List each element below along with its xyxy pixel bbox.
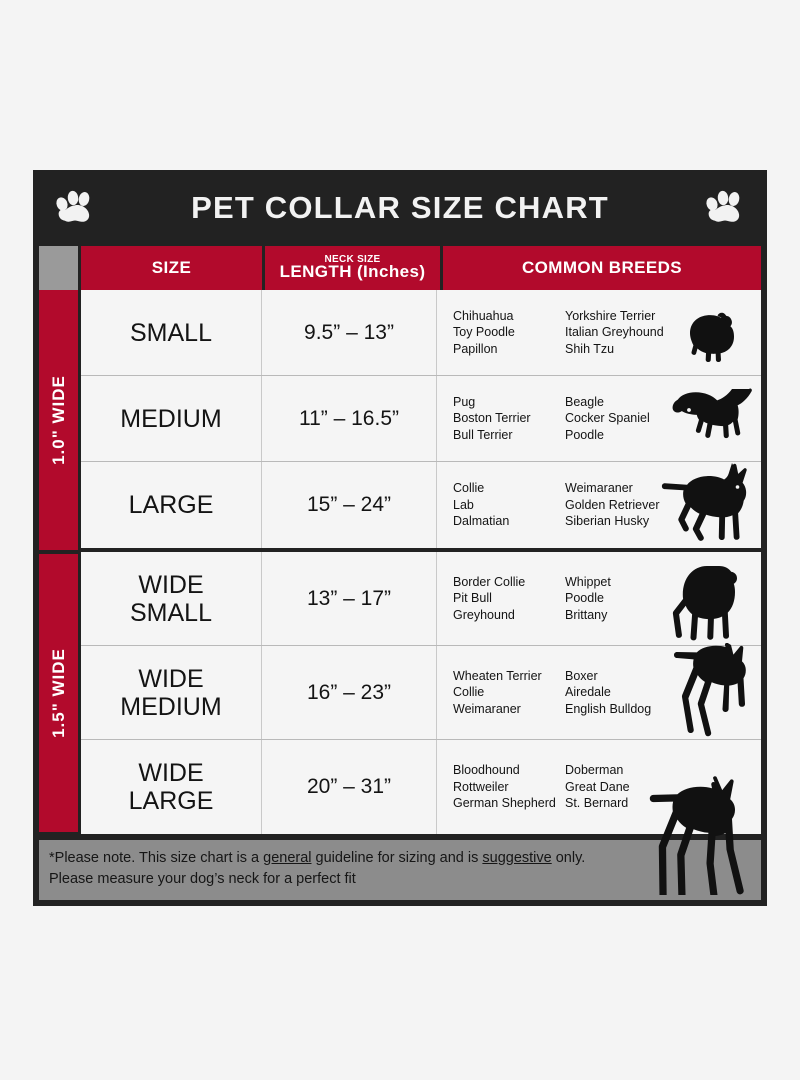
cell-length: 16” – 23” (262, 646, 437, 739)
footnote-line-2: Please measure your dog’s neck for a per… (49, 869, 751, 890)
breed-item: Brittany (565, 607, 685, 624)
size-label-line2: LARGE (129, 787, 214, 815)
footnote-underline-general: general (263, 850, 311, 866)
breed-item: Doberman (565, 762, 685, 779)
breed-item: Airedale (565, 684, 685, 701)
footnote-underline-suggestive: suggestive (482, 850, 551, 866)
rows-container: SMALL 9.5” – 13” Chihuahua Toy Poodle Pa… (81, 290, 761, 834)
cell-breeds: Border Collie Pit Bull Greyhound Whippet… (437, 552, 761, 645)
column-header-length-main: LENGTH (Inches) (280, 263, 426, 280)
page-title: PET COLLAR SIZE CHART (191, 190, 609, 226)
footnote-text-c: only. (552, 850, 586, 866)
pet-collar-size-chart: PET COLLAR SIZE CHART SIZE NECK SIZE LEN… (33, 170, 767, 906)
table-row: WIDE LARGE 20” – 31” Bloodhound Rottweil… (81, 740, 761, 834)
breed-column-a: Pug Boston Terrier Bull Terrier (453, 394, 565, 444)
size-label: MEDIUM (120, 405, 221, 433)
breed-column-b: Doberman Great Dane St. Bernard (565, 762, 685, 812)
breed-item: Toy Poodle (453, 324, 565, 341)
cell-breeds: Chihuahua Toy Poodle Papillon Yorkshire … (437, 290, 761, 375)
breed-item: Pit Bull (453, 590, 565, 607)
dog-silhouette-pomeranian-icon (677, 305, 747, 367)
cell-size: WIDE MEDIUM (81, 646, 262, 739)
breed-item: Poodle (565, 590, 685, 607)
size-label: WIDE (138, 759, 203, 787)
breed-item: English Bulldog (565, 701, 685, 718)
table-row: MEDIUM 11” – 16.5” Pug Boston Terrier Bu… (81, 376, 761, 462)
breed-item: Boxer (565, 668, 685, 685)
size-label: SMALL (130, 319, 212, 347)
table-row: LARGE 15” – 24” Collie Lab Dalmatian Wei… (81, 462, 761, 548)
size-label: WIDE (138, 665, 203, 693)
breed-column-a: Collie Lab Dalmatian (453, 480, 565, 530)
breed-item: Boston Terrier (453, 410, 565, 427)
breed-item: Great Dane (565, 779, 685, 796)
breed-column-a: Chihuahua Toy Poodle Papillon (453, 308, 565, 358)
breed-item: Weimaraner (565, 480, 685, 497)
breed-item: Collie (453, 684, 565, 701)
table-header-row: SIZE NECK SIZE LENGTH (Inches) COMMON BR… (33, 246, 767, 290)
cell-breeds: Pug Boston Terrier Bull Terrier Beagle C… (437, 376, 761, 461)
width-label-1-5-text: 1.5" WIDE (49, 648, 69, 738)
width-label-1-5: 1.5" WIDE (39, 554, 78, 832)
column-header-common-breeds: COMMON BREEDS (443, 246, 761, 290)
footnote-text-b: guideline for sizing and is (312, 850, 483, 866)
width-label-1-0-text: 1.0" WIDE (49, 375, 69, 465)
breed-item: Weimaraner (453, 701, 565, 718)
table-body: 1.0" WIDE 1.5" WIDE SMALL 9.5” – 13” Chi (33, 290, 767, 834)
breed-column-a: Border Collie Pit Bull Greyhound (453, 574, 565, 624)
breed-item: Poodle (565, 427, 685, 444)
breed-item: German Shepherd (453, 795, 565, 812)
breed-item: Pug (453, 394, 565, 411)
size-label: LARGE (129, 491, 214, 519)
breed-item: Papillon (453, 341, 565, 358)
size-label: WIDE (138, 571, 203, 599)
cell-size: SMALL (81, 290, 262, 375)
header-corner-cell (39, 246, 78, 290)
table-row: WIDE MEDIUM 16” – 23” Wheaten Terrier Co… (81, 646, 761, 740)
cell-size: WIDE LARGE (81, 740, 262, 834)
breed-item: St. Bernard (565, 795, 685, 812)
cell-size: LARGE (81, 462, 262, 548)
breed-item: Golden Retriever (565, 497, 685, 514)
width-label-1-0: 1.0" WIDE (39, 290, 78, 550)
breed-item: Bloodhound (453, 762, 565, 779)
cell-breeds: Collie Lab Dalmatian Weimaraner Golden R… (437, 462, 761, 548)
paw-print-icon (53, 187, 97, 229)
breed-column-b: Weimaraner Golden Retriever Siberian Hus… (565, 480, 685, 530)
breed-item: Collie (453, 480, 565, 497)
breed-item: Beagle (565, 394, 685, 411)
breed-item: Lab (453, 497, 565, 514)
breed-item: Dalmatian (453, 513, 565, 530)
table-row: WIDE SMALL 13” – 17” Border Collie Pit B… (81, 552, 761, 646)
breed-item: Greyhound (453, 607, 565, 624)
cell-length: 11” – 16.5” (262, 376, 437, 461)
column-header-length: NECK SIZE LENGTH (Inches) (265, 246, 440, 290)
chart-title-band: PET COLLAR SIZE CHART (33, 170, 767, 246)
breed-column-b: Whippet Poodle Brittany (565, 574, 685, 624)
breed-item: Rottweiler (453, 779, 565, 796)
cell-length: 9.5” – 13” (262, 290, 437, 375)
breed-item: Whippet (565, 574, 685, 591)
breed-item: Yorkshire Terrier (565, 308, 685, 325)
size-label-line2: MEDIUM (120, 693, 221, 721)
width-rail: 1.0" WIDE 1.5" WIDE (39, 290, 78, 834)
footnote-text-a: *Please note. This size chart is a (49, 850, 263, 866)
breed-column-a: Wheaten Terrier Collie Weimaraner (453, 668, 565, 718)
breed-column-b: Yorkshire Terrier Italian Greyhound Shih… (565, 308, 685, 358)
breed-column-a: Bloodhound Rottweiler German Shepherd (453, 762, 565, 812)
breed-column-b: Beagle Cocker Spaniel Poodle (565, 394, 685, 444)
size-label-line2: SMALL (130, 599, 212, 627)
breed-column-b: Boxer Airedale English Bulldog (565, 668, 685, 718)
breed-item: Cocker Spaniel (565, 410, 685, 427)
paw-print-icon (703, 187, 747, 229)
breed-item: Bull Terrier (453, 427, 565, 444)
breed-item: Shih Tzu (565, 341, 685, 358)
cell-breeds: Bloodhound Rottweiler German Shepherd Do… (437, 740, 761, 834)
footnote: *Please note. This size chart is a gener… (39, 840, 761, 900)
cell-breeds: Wheaten Terrier Collie Weimaraner Boxer … (437, 646, 761, 739)
cell-size: WIDE SMALL (81, 552, 262, 645)
cell-length: 15” – 24” (262, 462, 437, 548)
cell-size: MEDIUM (81, 376, 262, 461)
breed-item: Wheaten Terrier (453, 668, 565, 685)
breed-item: Siberian Husky (565, 513, 685, 530)
breed-item: Chihuahua (453, 308, 565, 325)
cell-length: 20” – 31” (262, 740, 437, 834)
breed-item: Border Collie (453, 574, 565, 591)
table-row: SMALL 9.5” – 13” Chihuahua Toy Poodle Pa… (81, 290, 761, 376)
cell-length: 13” – 17” (262, 552, 437, 645)
breed-item: Italian Greyhound (565, 324, 685, 341)
footnote-line-1: *Please note. This size chart is a gener… (49, 848, 751, 869)
page-root: PET COLLAR SIZE CHART SIZE NECK SIZE LEN… (0, 0, 800, 1080)
column-header-size: SIZE (81, 246, 262, 290)
